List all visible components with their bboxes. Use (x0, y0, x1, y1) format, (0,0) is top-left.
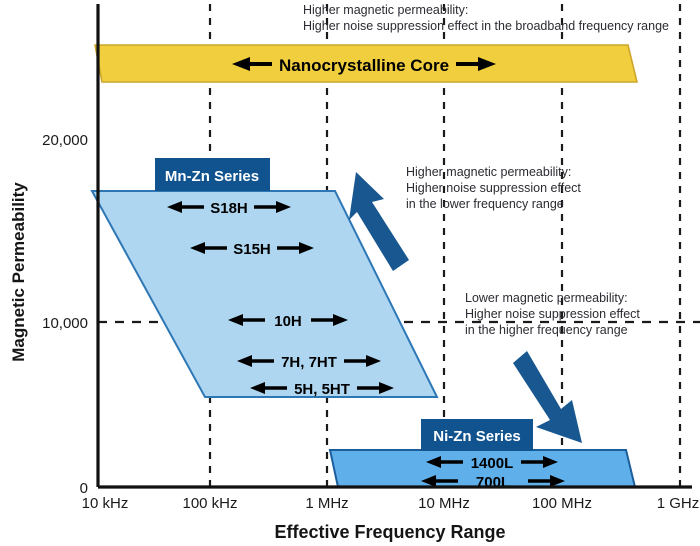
x-tick-10mhz: 10 MHz (418, 495, 470, 512)
note-middle-line2: Higher noise suppression effect (406, 181, 581, 195)
x-tick-100khz: 100 kHz (182, 495, 237, 512)
x-axis-title: Effective Frequency Range (274, 522, 505, 542)
note-top-line1: Higher magnetic permeability: (303, 3, 468, 17)
note-middle: Higher magnetic permeability: Higher noi… (406, 165, 581, 211)
y-tick-20000: 20,000 (42, 132, 88, 149)
x-tick-1ghz: 1 GHz (657, 495, 700, 512)
mnzn-label-10h: 10H (274, 313, 302, 330)
x-tick-100mhz: 100 MHz (532, 495, 592, 512)
mnzn-label-7h: 7H, 7HT (281, 354, 337, 371)
note-lower-line1: Lower magnetic permeability: (465, 291, 628, 305)
note-middle-line1: Higher magnetic permeability: (406, 165, 571, 179)
note-lower: Lower magnetic permeability: Higher nois… (465, 291, 640, 337)
note-lower-line3: in the higher frequency range (465, 323, 628, 337)
chart-canvas: Nanocrystalline Core Mn-Zn Series S18H (0, 0, 700, 546)
mnzn-label-s18h: S18H (210, 200, 248, 217)
nanocrystalline-core-label: Nanocrystalline Core (279, 56, 449, 75)
note-middle-line3: in the lower frequency range (406, 197, 564, 211)
y-tick-10000: 10,000 (42, 315, 88, 332)
note-top: Higher magnetic permeability: Higher noi… (303, 3, 669, 33)
mnzn-label-s15h: S15H (233, 241, 271, 258)
x-tick-1mhz: 1 MHz (305, 495, 348, 512)
nizn-series-badge-label: Ni-Zn Series (433, 428, 521, 445)
mnzn-series-badge-label: Mn-Zn Series (165, 168, 259, 185)
permeability-frequency-chart: Nanocrystalline Core Mn-Zn Series S18H (0, 0, 700, 546)
y-axis-title: Magnetic Permeability (9, 182, 28, 362)
note-lower-line2: Higher noise suppression effect (465, 307, 640, 321)
note-top-line2: Higher noise suppression effect in the b… (303, 19, 669, 33)
mnzn-label-5h: 5H, 5HT (294, 381, 350, 398)
band-mnzn-series (92, 191, 437, 397)
x-tick-10khz: 10 kHz (82, 495, 129, 512)
nizn-label-1400l: 1400L (471, 455, 514, 472)
